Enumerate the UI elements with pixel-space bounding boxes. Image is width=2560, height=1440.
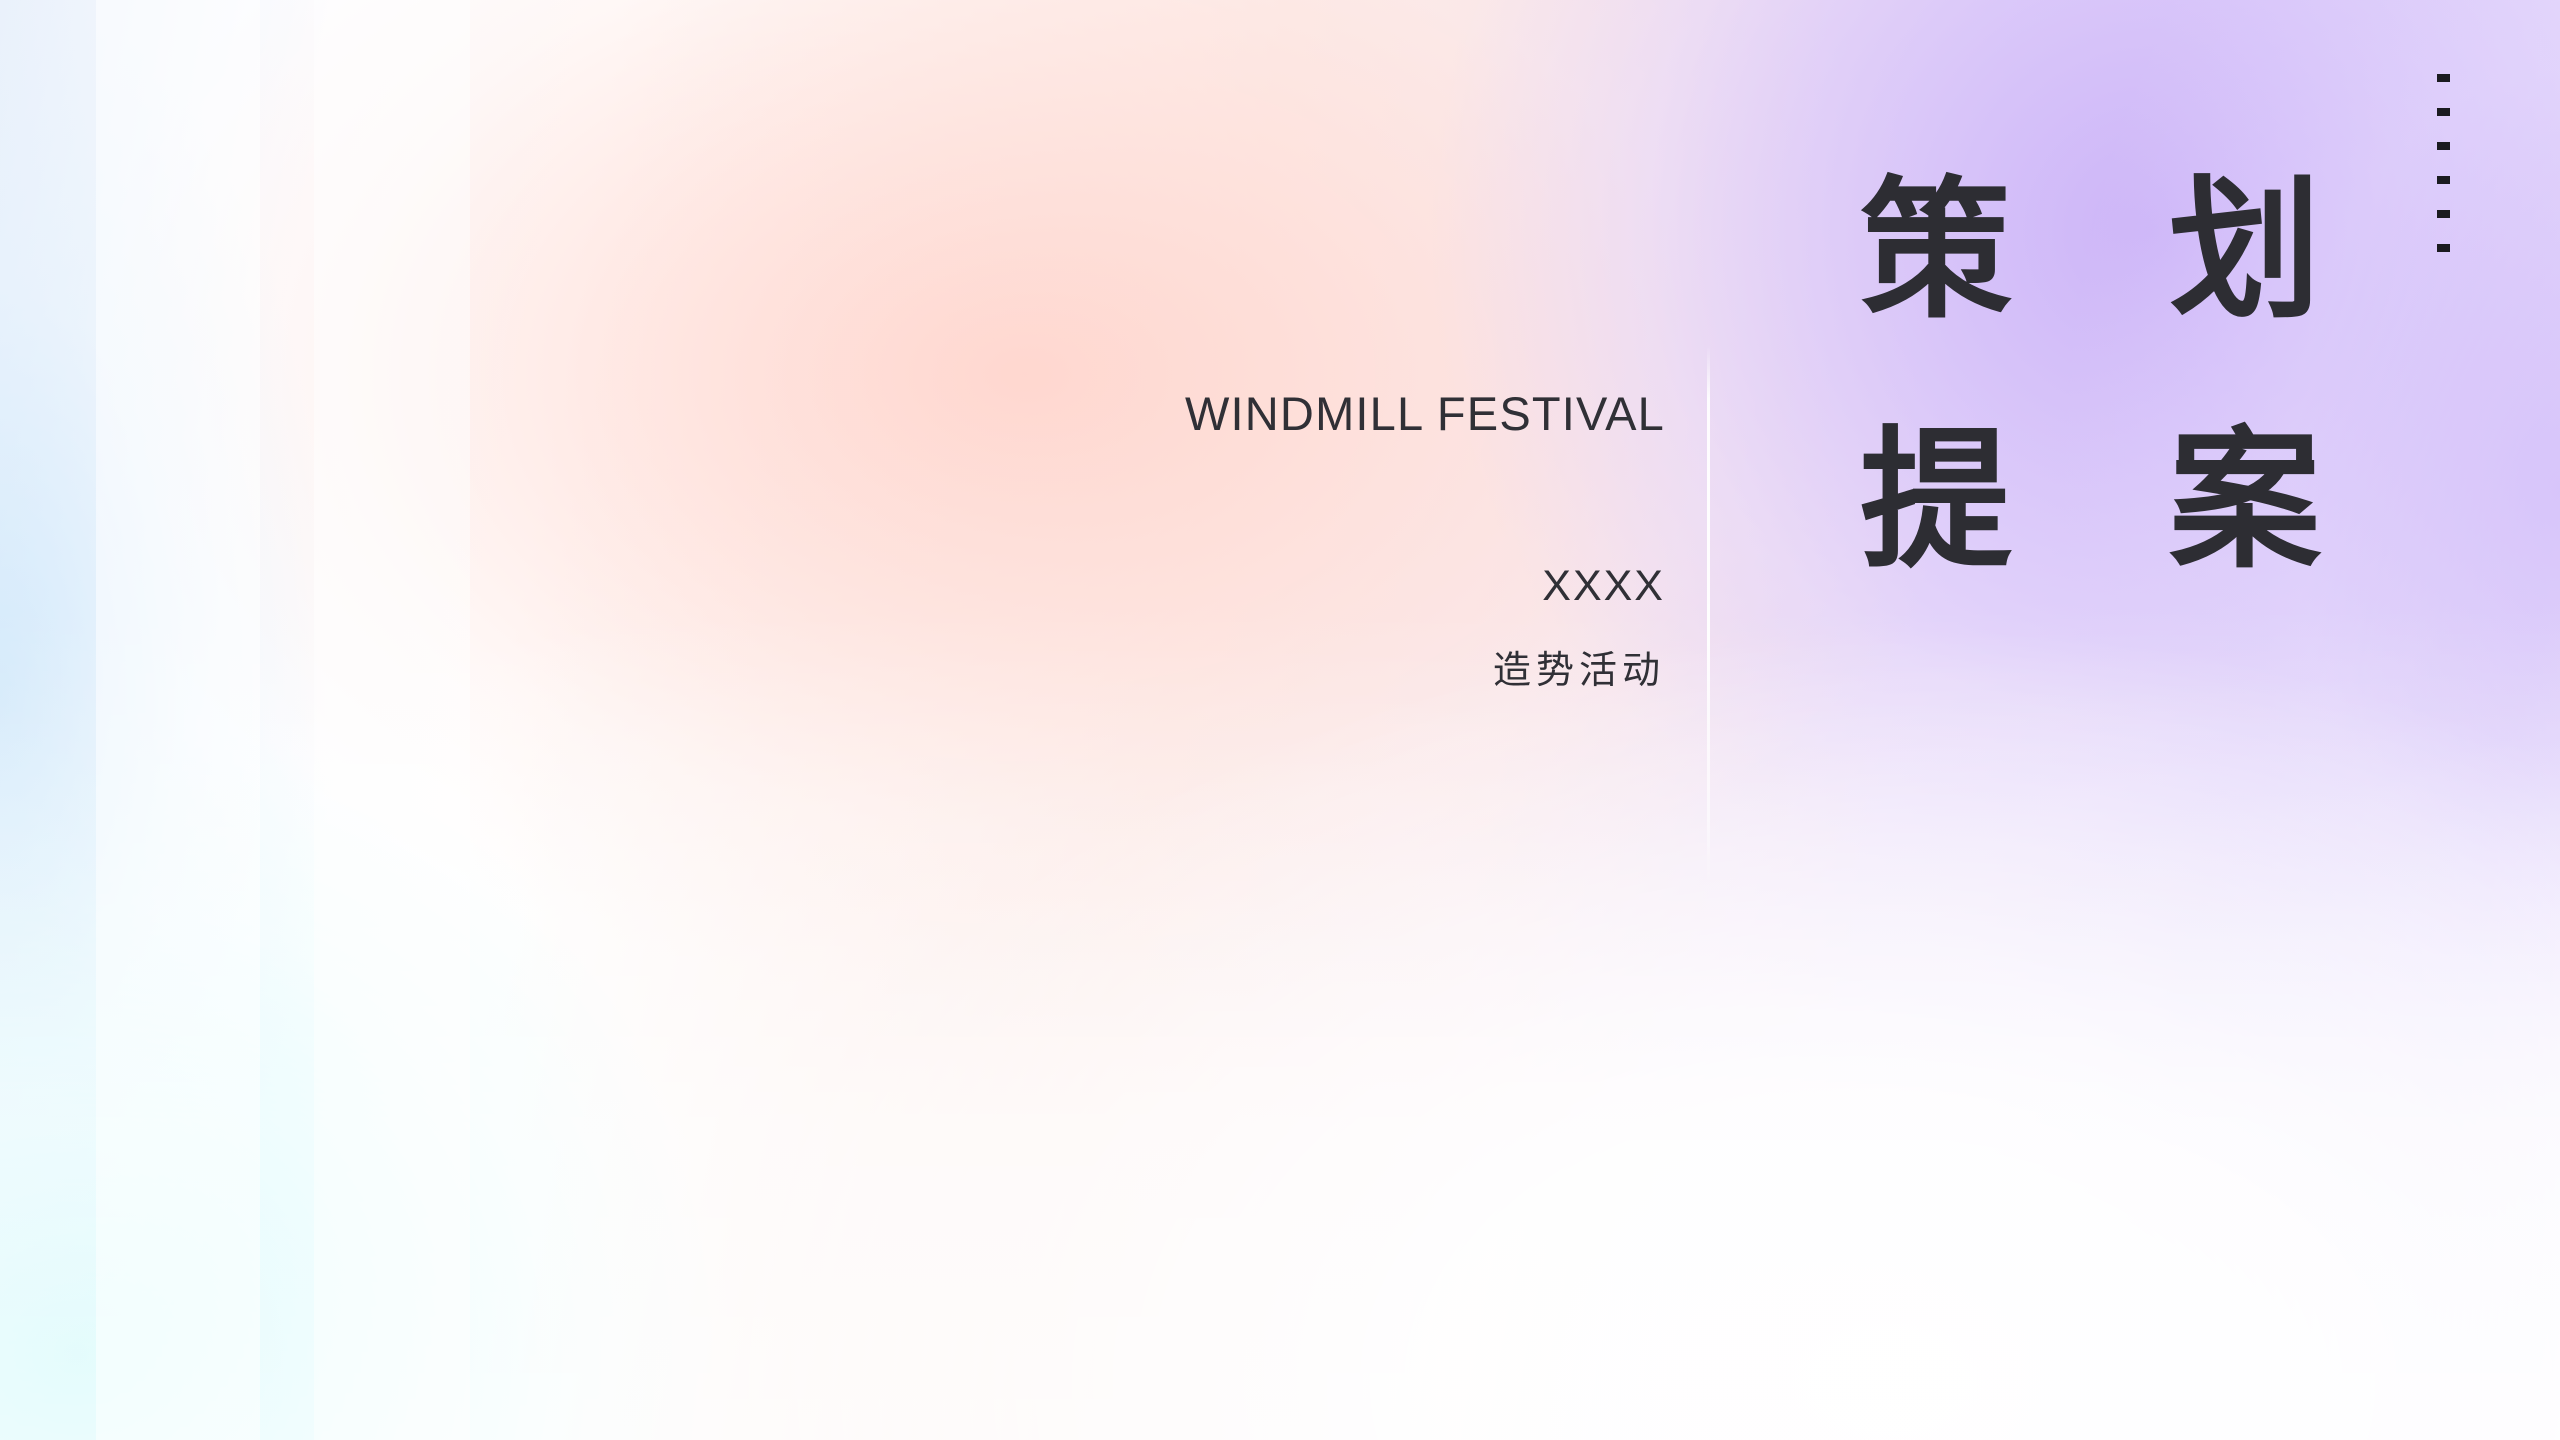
festival-title: WINDMILL FESTIVAL bbox=[700, 390, 1665, 437]
dot-marker bbox=[2437, 210, 2450, 218]
dot-column-decoration bbox=[2437, 74, 2450, 252]
dot-marker bbox=[2437, 244, 2450, 252]
subtitle-group: XXXX 造势活动 bbox=[700, 565, 1665, 690]
vertical-rule-divider bbox=[1707, 345, 1710, 885]
headline-line-1: 策 划 bbox=[1860, 175, 2373, 327]
dot-marker bbox=[2437, 108, 2450, 116]
slide-canvas: WINDMILL FESTIVAL XXXX 造势活动 策 划 提 案 bbox=[0, 0, 2560, 1440]
headline-block: 策 划 提 案 bbox=[1860, 175, 2373, 577]
subtitle-code: XXXX bbox=[700, 565, 1665, 608]
vertical-band bbox=[314, 0, 470, 1440]
dot-marker bbox=[2437, 74, 2450, 82]
subtitle-block: WINDMILL FESTIVAL XXXX 造势活动 bbox=[700, 390, 1665, 690]
dot-marker bbox=[2437, 142, 2450, 150]
vertical-band bbox=[96, 0, 260, 1440]
headline-line-2: 提 案 bbox=[1860, 425, 2373, 577]
dot-marker bbox=[2437, 176, 2450, 184]
subtitle-chinese: 造势活动 bbox=[700, 652, 1665, 690]
